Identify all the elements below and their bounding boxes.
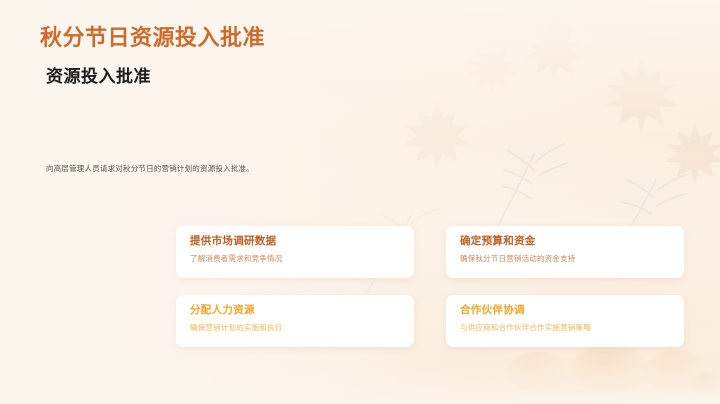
pumpkin-icon xyxy=(508,352,566,392)
maple-leaf-icon xyxy=(518,14,590,86)
pumpkin-icon xyxy=(572,344,648,394)
maple-leaf-icon xyxy=(660,118,720,188)
page-title: 秋分节日资源投入批准 xyxy=(40,24,460,52)
info-card-title: 合作伙伴协调 xyxy=(460,304,670,318)
maple-leaf-icon xyxy=(462,38,522,98)
info-card-description: 了解消费者需求和竞争情况 xyxy=(190,254,400,265)
maple-leaf-icon xyxy=(398,96,476,174)
info-card-title: 确定预算和资金 xyxy=(460,235,670,249)
info-card[interactable]: 合作伙伴协调 与供应商和合作伙伴合作实施营销策略 xyxy=(446,295,684,347)
info-card-description: 确保营销计划的实施和执行 xyxy=(190,323,400,334)
intro-paragraph: 向高层管理人员请求对秋分节日的营销计划的资源投入批准。 xyxy=(46,162,258,175)
card-grid: 提供市场调研数据 了解消费者需求和竞争情况 确定预算和资金 确保秋分节日营销活动… xyxy=(176,226,684,347)
pumpkin-icon xyxy=(644,350,706,394)
info-card[interactable]: 提供市场调研数据 了解消费者需求和竞争情况 xyxy=(176,226,414,278)
info-card-title: 分配人力资源 xyxy=(190,304,400,318)
info-card[interactable]: 确定预算和资金 确保秋分节日营销活动的资金支持 xyxy=(446,226,684,278)
info-card-title: 提供市场调研数据 xyxy=(190,235,400,249)
info-card-description: 与供应商和合作伙伴合作实施营销策略 xyxy=(460,323,670,334)
pumpkin-icon xyxy=(690,372,720,398)
slide-canvas: 秋分节日资源投入批准 资源投入批准 向高层管理人员请求对秋分节日的营销计划的资源… xyxy=(0,0,720,404)
maple-leaf-icon xyxy=(598,52,684,138)
info-card-description: 确保秋分节日营销活动的资金支持 xyxy=(460,254,670,265)
page-subtitle: 资源投入批准 xyxy=(46,66,460,87)
slide-header: 秋分节日资源投入批准 资源投入批准 xyxy=(40,24,460,87)
info-card[interactable]: 分配人力资源 确保营销计划的实施和执行 xyxy=(176,295,414,347)
